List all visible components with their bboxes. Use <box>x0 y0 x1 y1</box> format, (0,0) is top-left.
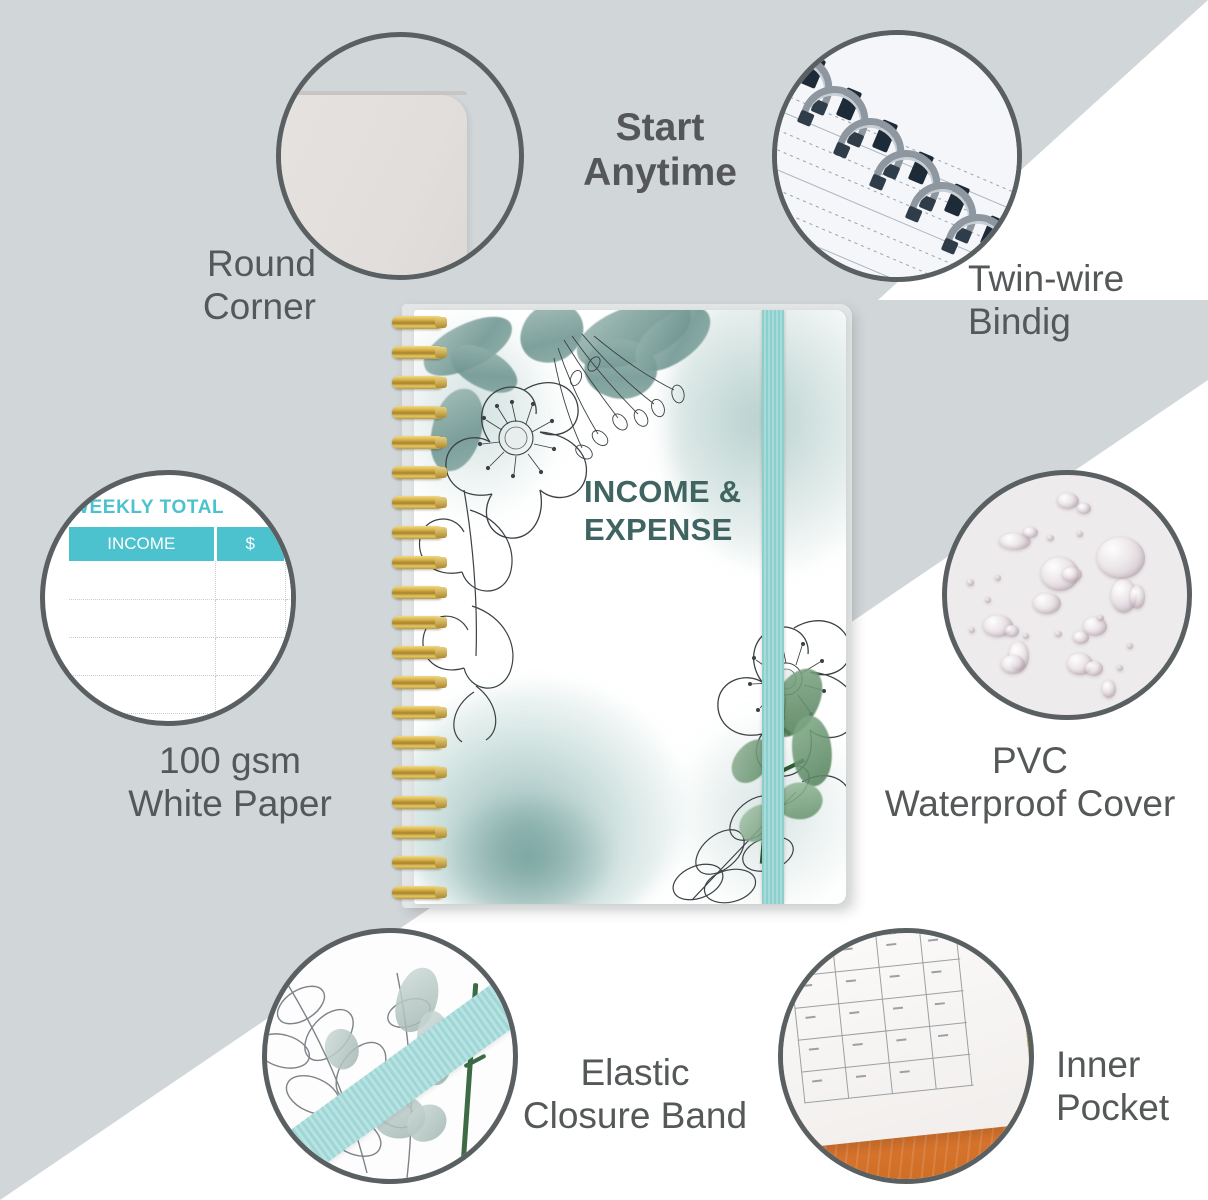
callout-inner-pocket: V <box>778 928 1034 1184</box>
spiral-coil <box>392 316 444 329</box>
elastic-closure-band-on-cover <box>762 310 784 904</box>
callout-pvc-waterproof-cover <box>942 470 1192 720</box>
line-art-stamen-spray <box>542 334 722 474</box>
caption-round-corner: Round Corner <box>86 243 316 329</box>
spiral-coil <box>392 466 444 479</box>
spiral-coil <box>392 796 444 809</box>
notebook-product-image: INCOME & EXPENSE <box>386 300 856 912</box>
spiral-coil <box>392 736 444 749</box>
spiral-coil <box>392 766 444 779</box>
spiral-coil <box>392 406 444 419</box>
spiral-coil <box>392 616 444 629</box>
table-row <box>69 675 296 713</box>
caption-twin-wire-binding: Twin-wire Bindig <box>968 258 1208 344</box>
spiral-coil <box>392 556 444 569</box>
spiral-coil <box>392 646 444 659</box>
spiral-coil <box>392 826 444 839</box>
spiral-coil <box>392 706 444 719</box>
caption-paper-weight: 100 gsm White Paper <box>70 740 390 826</box>
watercolor-wash-bottom-left-2 <box>444 794 614 904</box>
weekly-total-table-icon: WEEKLY TOTAL INCOME $ <box>53 497 296 726</box>
cover-title: INCOME & EXPENSE <box>584 473 804 549</box>
column-header-income: INCOME <box>69 527 215 561</box>
gold-spiral-binding <box>386 310 448 904</box>
weekly-total-title: WEEKLY TOTAL <box>71 497 224 519</box>
caption-pvc-waterproof-cover: PVC Waterproof Cover <box>860 740 1200 826</box>
callout-twin-wire-binding <box>772 30 1022 282</box>
spiral-coil <box>392 376 444 389</box>
notebook-front-cover: INCOME & EXPENSE <box>414 310 846 904</box>
caption-inner-pocket: Inner Pocket <box>1056 1044 1206 1130</box>
spiral-coil <box>392 436 444 449</box>
spiral-coil <box>392 346 444 359</box>
weekly-total-table: INCOME $ <box>69 527 296 714</box>
table-row <box>69 599 296 637</box>
spiral-coil <box>392 526 444 539</box>
table-header-row: INCOME $ <box>69 527 296 561</box>
spiral-coil <box>392 586 444 599</box>
caption-elastic-closure-band: Elastic Closure Band <box>470 1052 800 1138</box>
spiral-coil <box>392 886 444 899</box>
spiral-coil <box>392 496 444 509</box>
table-row <box>69 561 296 599</box>
notebook-page-grid <box>788 928 974 1103</box>
spiral-coil <box>392 676 444 689</box>
table-row <box>69 637 296 675</box>
callout-paper-weight: WEEKLY TOTAL INCOME $ <box>40 470 296 726</box>
inner-pocket-icon <box>778 928 1034 1149</box>
caption-start-anytime: Start Anytime <box>545 105 775 195</box>
water-droplets-icon <box>947 475 1187 715</box>
column-header-amount: $ <box>215 527 285 561</box>
spiral-coil <box>392 856 444 869</box>
